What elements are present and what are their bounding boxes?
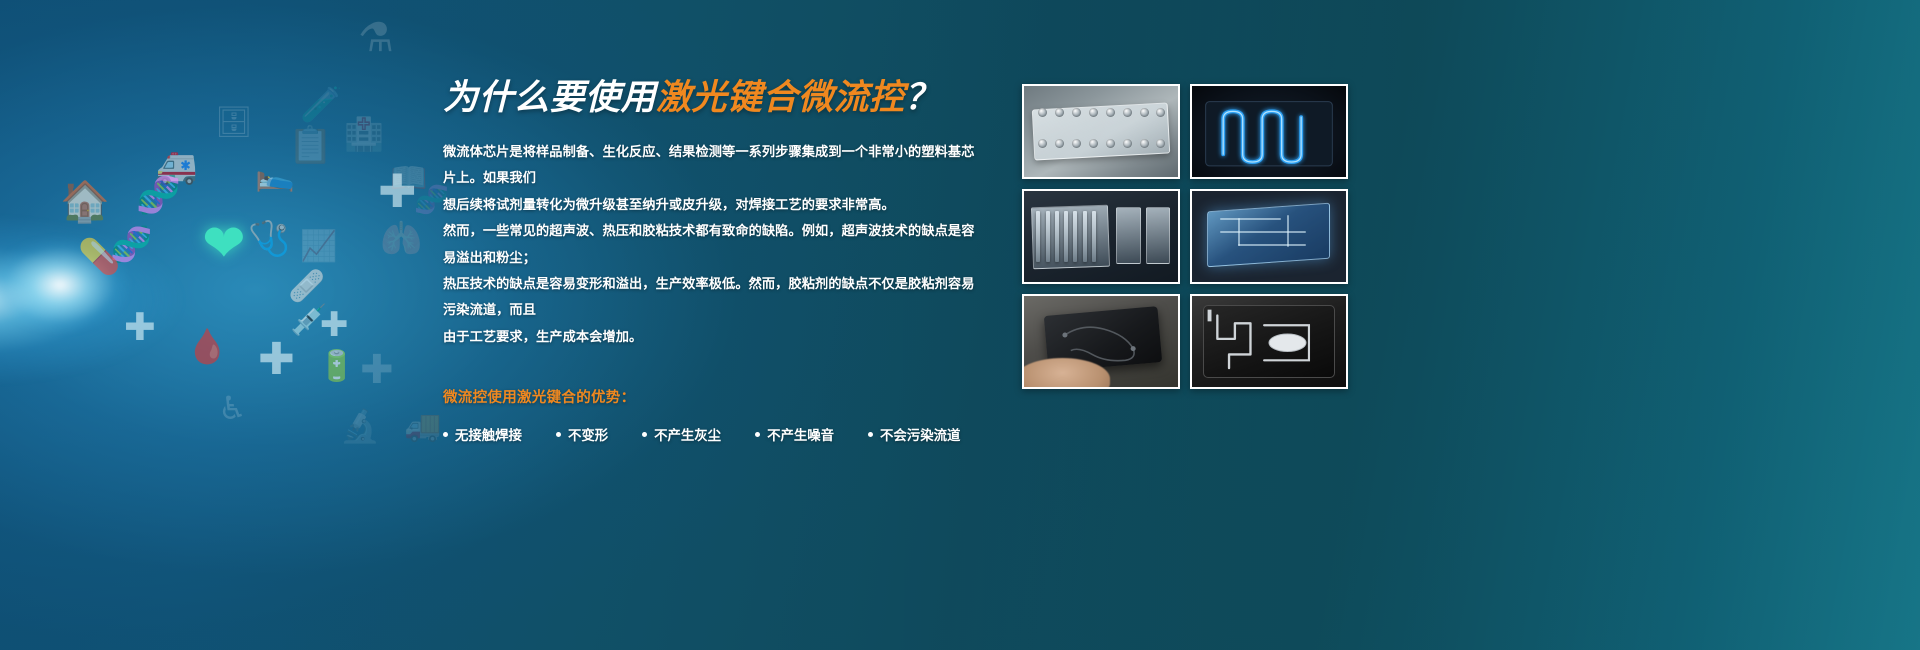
chip-stripe: [1092, 211, 1096, 262]
body-paragraphs: 微流体芯片是将样品制备、生化反应、结果检测等一系列步骤集成到一个非常小的塑料基芯…: [443, 139, 983, 350]
bullet-dot-icon: [868, 432, 873, 437]
list-item: 无接触焊接: [443, 424, 522, 444]
paragraph-line: 想后续将试剂量转化为微升级甚至纳升或皮升级，对焊接工艺的要求非常高。: [443, 192, 983, 218]
chip-stripe: [1046, 211, 1050, 262]
text-column: 为什么要使用激光键合微流控？ 微流体芯片是将样品制备、生化反应、结果检测等一系列…: [443, 78, 983, 444]
list-item: 不变形: [556, 424, 608, 444]
manifold-body: [1207, 203, 1330, 268]
list-item-label: 不变形: [568, 424, 608, 444]
list-item-label: 无接触焊接: [455, 424, 522, 444]
chip-stripe: [1073, 211, 1077, 262]
chip-stripe: [1036, 211, 1040, 262]
paragraph-line: 微流体芯片是将样品制备、生化反应、结果检测等一系列步骤集成到一个非常小的塑料基芯…: [443, 139, 983, 192]
paragraph-line: 热压技术的缺点是容易变形和溢出，生产效率极低。然而，胶粘剂的缺点不仅是胶粘剂容易…: [443, 271, 983, 324]
gallery-item-blue-transparent-manifold-block[interactable]: [1190, 189, 1348, 284]
gallery-item-black-card-chip-in-hand[interactable]: [1022, 294, 1180, 389]
list-item-label: 不产生噪音: [767, 424, 834, 444]
photo-surface: [1192, 296, 1346, 387]
title-question-mark: ？: [905, 78, 941, 117]
list-item: 不产生噪音: [755, 424, 834, 444]
page-title: 为什么要使用激光键合微流控？: [443, 78, 983, 118]
photo-surface: [1192, 191, 1346, 282]
chip-plate: [1116, 207, 1141, 263]
list-item-label: 不产生灰尘: [654, 424, 721, 444]
advantages-heading: 微流控使用激光键合的优势：: [443, 386, 983, 407]
banner-root: ⚗ 🧪 🗄 📋 🏥 🚑 🛌 📖 ✚ 🧬 🏠 🧬 🩺 📈 ❤ 💊 🫁 🩹 ✚ 🩸 …: [0, 0, 1920, 650]
photo-surface: [1192, 86, 1346, 177]
chip-stripe: [1083, 211, 1087, 262]
photo-surface: [1024, 296, 1178, 387]
product-image-grid: [1022, 84, 1348, 389]
gallery-item-clear-chip-with-round-wells[interactable]: [1022, 84, 1180, 179]
manifold-channel: [1220, 218, 1282, 220]
manifold-channel: [1238, 244, 1306, 246]
list-item-label: 不会污染流道: [880, 424, 960, 444]
bullet-dot-icon: [755, 432, 760, 437]
gallery-item-black-plate-with-oval-chamber[interactable]: [1190, 294, 1348, 389]
serpentine-channel-graphic: [1192, 86, 1346, 179]
chip-stripe: [1064, 211, 1068, 262]
manifold-channel: [1238, 218, 1240, 245]
bullet-dot-icon: [443, 432, 448, 437]
chip-plate: [1146, 207, 1171, 263]
title-orange-part: 激光键合微流控: [656, 78, 905, 117]
bullet-dot-icon: [642, 432, 647, 437]
plate-channel-graphic: [1192, 296, 1346, 389]
list-item: 不会污染流道: [868, 424, 960, 444]
chip-plate: [1031, 204, 1110, 269]
well-row: [1024, 86, 1178, 177]
list-item: 不产生灰尘: [642, 424, 721, 444]
advantages-list: 无接触焊接 不变形 不产生灰尘 不产生噪音 不会污染流道: [443, 424, 983, 444]
chip-stripe: [1055, 211, 1059, 262]
photo-surface: [1024, 191, 1178, 282]
gallery-item-dark-chip-with-blue-serpentine-channel[interactable]: [1190, 84, 1348, 179]
manifold-channel: [1220, 231, 1306, 233]
paragraph-line: 由于工艺要求，生产成本会增加。: [443, 324, 983, 350]
bullet-dot-icon: [556, 432, 561, 437]
paragraph-line: 然而，一些常见的超声波、热压和胶粘技术都有致命的缺陷。例如，超声波技术的缺点是容…: [443, 218, 983, 271]
gallery-item-striped-transparent-chip-array[interactable]: [1022, 189, 1180, 284]
title-white-part: 为什么要使用: [443, 78, 656, 117]
photo-surface: [1024, 86, 1178, 177]
